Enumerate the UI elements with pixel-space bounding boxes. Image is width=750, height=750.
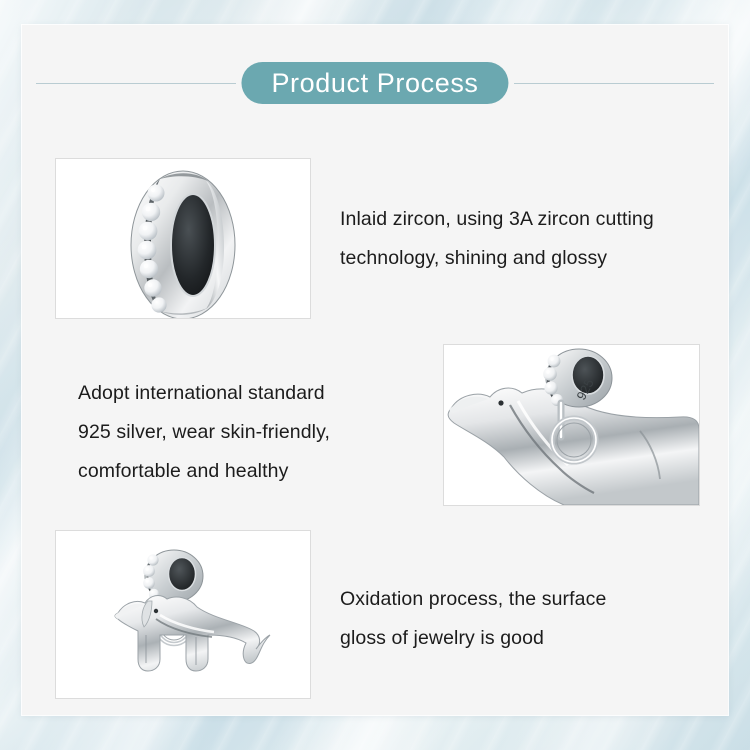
page-title: Product Process [241,62,508,104]
title-rule-left [36,83,236,84]
section-zircon: Inlaid zircon, using 3A zircon cutting t… [22,158,728,318]
dachshund-charm-full-photo [55,530,311,699]
dachshund-closeup-illustration: 925 [444,345,699,505]
zircon-pave-ring-photo [55,158,311,319]
content-panel: Product Process [22,25,728,715]
zircon-ring-illustration [56,159,310,318]
zircon-line-2: technology, shining and glossy [340,239,654,278]
zircon-text: Inlaid zircon, using 3A zircon cutting t… [340,200,654,278]
silver-line-2: 925 silver, wear skin-friendly, [78,413,330,452]
title-rule-right [514,83,714,84]
section-oxidation: Oxidation process, the surface gloss of … [22,530,728,698]
silver-line-3: comfortable and healthy [78,452,330,491]
dachshund-full-illustration [56,531,310,698]
section-silver: Adopt international standard 925 silver,… [22,344,728,504]
zircon-line-1: Inlaid zircon, using 3A zircon cutting [340,200,654,239]
section-title-row: Product Process [22,62,728,104]
oxidation-text: Oxidation process, the surface gloss of … [340,580,606,658]
dachshund-charm-closeup-photo: 925 [443,344,700,506]
oxidation-line-2: gloss of jewelry is good [340,619,606,658]
silver-text: Adopt international standard 925 silver,… [78,374,330,491]
silver-line-1: Adopt international standard [78,374,330,413]
charm-bail-full [143,550,203,602]
oxidation-line-1: Oxidation process, the surface [340,580,606,619]
charm-bail: 925 [543,349,612,407]
product-process-infographic: Product Process [0,0,750,750]
